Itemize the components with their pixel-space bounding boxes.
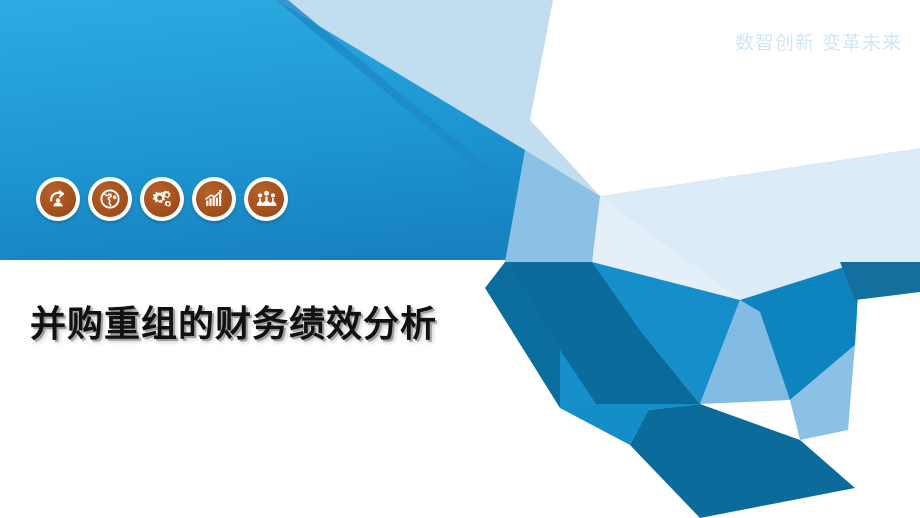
title-slide: 数智创新 变革未来 [0, 0, 920, 518]
bar-chart-icon [196, 181, 232, 217]
header-tagline: 数智创新 变革未来 [735, 28, 902, 55]
icon-row [36, 177, 288, 221]
page-title: 并购重组的财务绩效分析 [30, 295, 437, 347]
people-group-icon [248, 181, 284, 217]
icon-badge-2[interactable] [88, 177, 132, 221]
icon-badge-4[interactable] [192, 177, 236, 221]
background-polygon-artwork [0, 0, 920, 518]
icon-badge-1[interactable] [36, 177, 80, 221]
icon-badge-5[interactable] [244, 177, 288, 221]
icon-badge-3[interactable] [140, 177, 184, 221]
gears-icon [144, 181, 180, 217]
recycle-person-icon [40, 181, 76, 217]
globe-icon [92, 181, 128, 217]
